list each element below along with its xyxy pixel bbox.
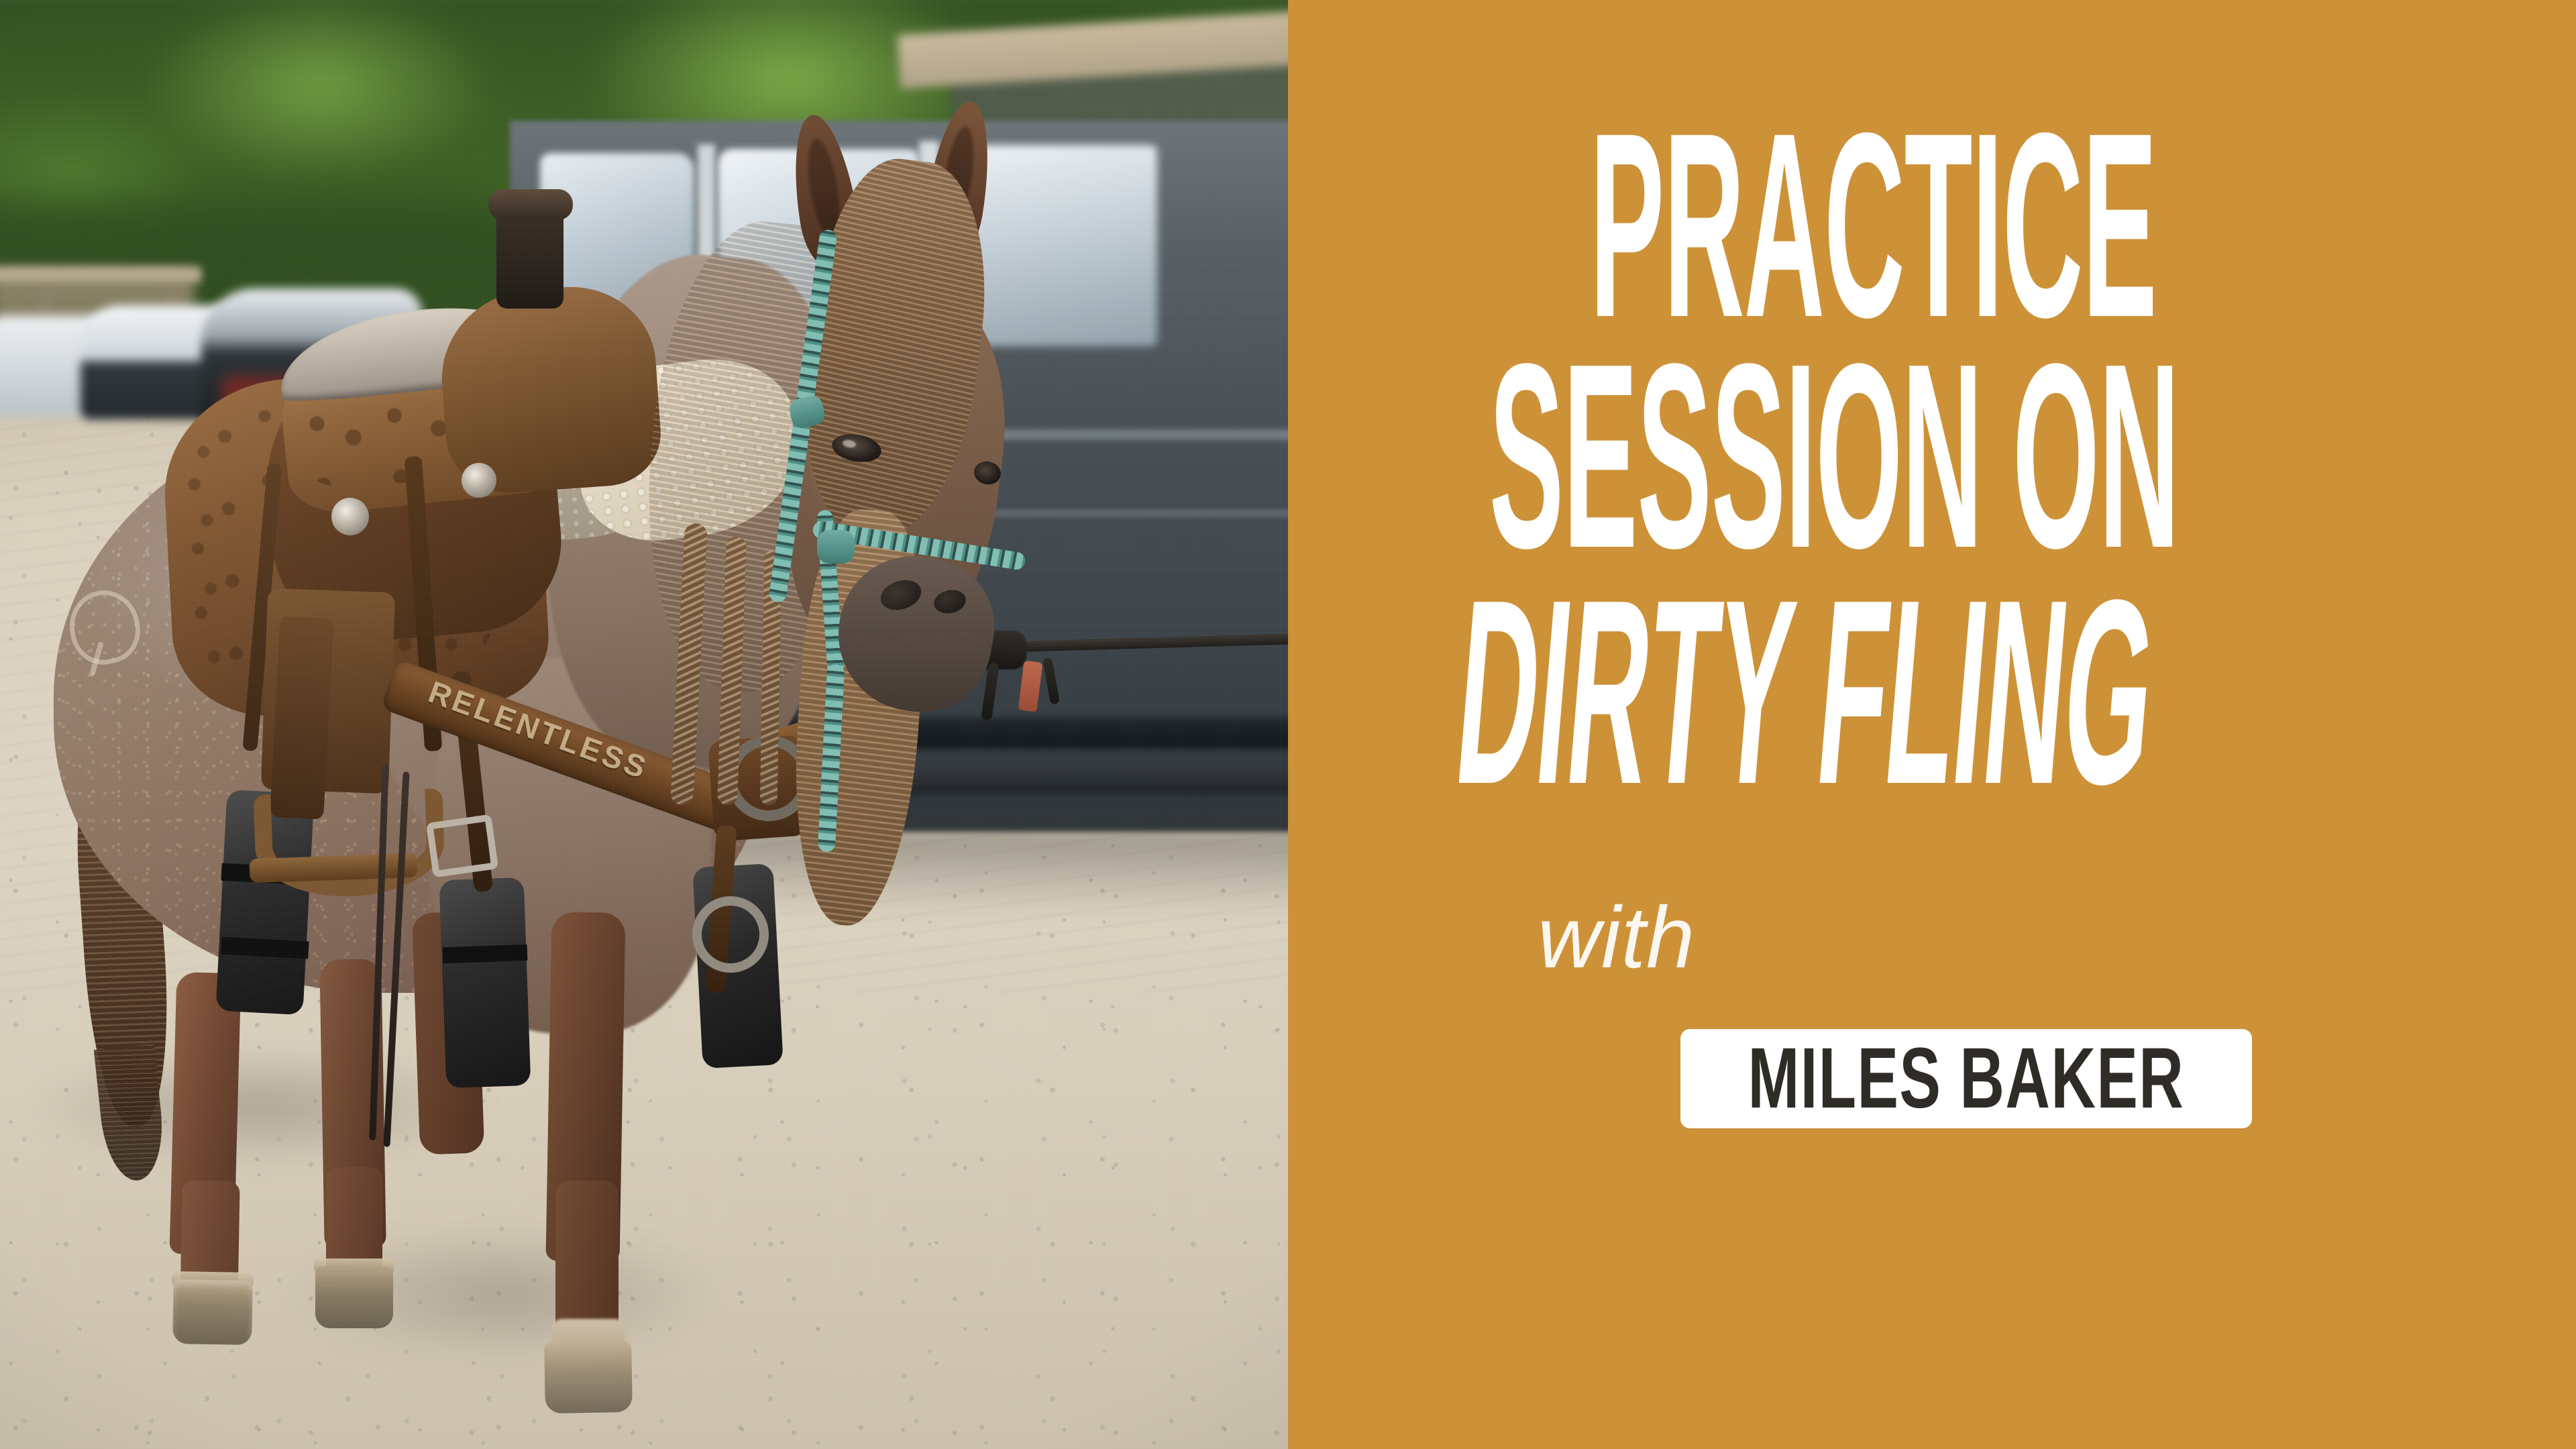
horse-hoof-fore-right bbox=[315, 1267, 393, 1328]
saddle-concho-2 bbox=[462, 463, 496, 498]
shed-beam bbox=[0, 267, 201, 282]
halter-knot-nose bbox=[817, 530, 855, 563]
stirrup-leather bbox=[270, 616, 334, 820]
presenter-name-badge: MILES BAKER bbox=[1680, 1029, 2252, 1128]
headline-horse-name: DIRTY FLING bbox=[1450, 585, 2161, 800]
connector-with: with bbox=[1538, 894, 1695, 981]
splint-boot-strap-3 bbox=[443, 945, 528, 963]
headline-line-2-text: SESSION ON bbox=[1489, 349, 2179, 564]
breast-collar-lower-ring bbox=[692, 896, 769, 973]
title-card: RELENTLESS REL bbox=[0, 0, 2576, 1449]
saddle-horn-cap bbox=[488, 189, 573, 220]
horse-hoof-fore-left bbox=[172, 1279, 253, 1345]
headline-line-2: SESSION ON bbox=[1489, 349, 2179, 564]
cinch-buckle bbox=[426, 814, 498, 878]
hero-photo: RELENTLESS REL bbox=[0, 0, 1288, 1449]
saddle-concho-1 bbox=[331, 498, 369, 535]
headline-line-1: PRACTICE bbox=[1590, 118, 2157, 333]
title-panel: PRACTICE SESSION ON DIRTY FLING with MIL… bbox=[1288, 0, 2576, 1449]
headline-horse-name-text: DIRTY FLING bbox=[1450, 585, 2161, 800]
presenter-name-text: MILES BAKER bbox=[1748, 1036, 2185, 1122]
splint-boot-fore-right bbox=[439, 877, 531, 1088]
horse-hoof-hind bbox=[544, 1341, 633, 1413]
headline-line-1-text: PRACTICE bbox=[1590, 118, 2157, 333]
